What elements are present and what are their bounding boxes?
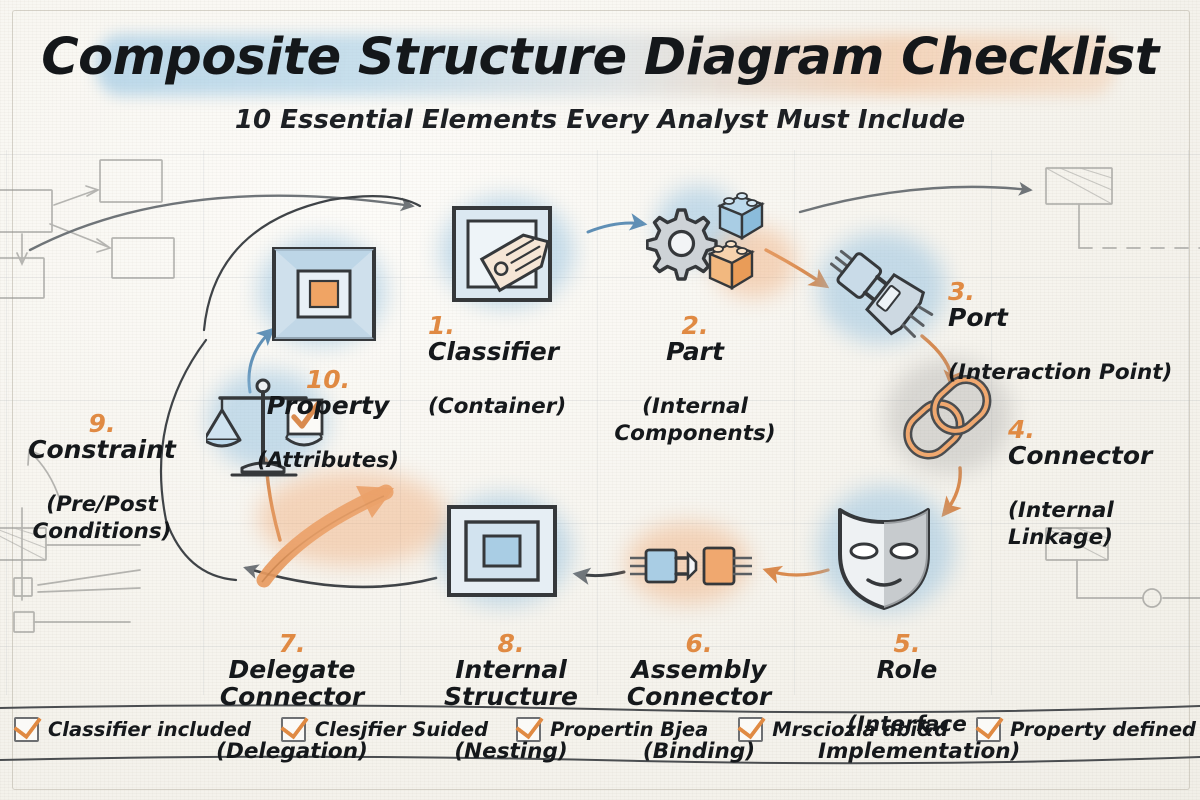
element-qualifier-1: (Container): [428, 394, 566, 419]
element-qualifier-3: (Interaction Point): [948, 360, 1172, 385]
nested-rectangles-icon: [444, 502, 560, 600]
page-title: Composite Structure Diagram Checklist: [0, 28, 1200, 87]
element-number-5: 5.: [894, 629, 921, 658]
checklist-label-5: Property defined: [1010, 718, 1196, 741]
element-name-6: Assembly Connector: [627, 655, 771, 711]
element-name-5: Role: [877, 655, 938, 684]
checkbox-checked-icon[interactable]: [14, 717, 39, 742]
element-label-4: 4. Connector (Internal Linkage): [1008, 390, 1200, 550]
element-qualifier-2: (Internal Components): [614, 394, 775, 446]
element-label-3: 3. Port (Interaction Point): [948, 252, 1172, 385]
element-number-1: 1.: [428, 311, 455, 340]
element-qualifier-10: (Attributes): [257, 448, 399, 473]
element-name-1: Classifier: [428, 337, 559, 366]
element-number-3: 3.: [948, 277, 975, 306]
plug-pair-icon: [630, 536, 752, 596]
element-number-4: 4.: [1008, 415, 1035, 444]
element-label-8: 8. Internal Structure (Nesting): [428, 604, 594, 763]
infographic-canvas: Composite Structure Diagram Checklist 10…: [0, 0, 1200, 800]
element-qualifier-4: (Internal Linkage): [1008, 498, 1114, 550]
nested-square-orange-core-icon: [268, 244, 380, 344]
element-number-7: 7.: [279, 629, 306, 658]
element-label-2: 2. Part (Internal Components): [600, 286, 790, 446]
page-subtitle: 10 Essential Elements Every Analyst Must…: [0, 105, 1200, 135]
element-name-8: Internal Structure: [444, 655, 578, 711]
element-qualifier-9: (Pre/Post Conditions): [33, 492, 172, 544]
checklist-item-5[interactable]: Property defined: [976, 717, 1196, 742]
element-qualifier-7: (Delegation): [216, 739, 368, 764]
element-label-9: 9. Constraint (Pre/Post Conditions): [0, 384, 212, 544]
element-qualifier-5: (Interface Implementation): [818, 712, 1020, 764]
element-name-4: Connector: [1008, 441, 1152, 470]
element-qualifier-8: (Nesting): [454, 739, 567, 764]
element-name-10: Property: [267, 391, 390, 420]
element-label-6: 6. Assembly Connector (Binding): [614, 604, 784, 763]
element-number-2: 2.: [682, 311, 709, 340]
gear-blocks-icon: [646, 192, 774, 296]
element-name-3: Port: [948, 303, 1008, 332]
element-label-5: 5. Role (Interface Implementation): [818, 604, 996, 764]
theater-mask-icon: [828, 496, 940, 612]
element-label-10: 10. Property (Attributes): [248, 340, 408, 473]
element-label-7: 7. Delegate Connector (Delegation): [162, 604, 422, 763]
element-number-6: 6.: [686, 629, 713, 658]
element-name-9: Constraint: [28, 435, 176, 464]
element-name-2: Part: [666, 337, 724, 366]
element-name-7: Delegate Connector: [220, 655, 364, 711]
element-label-1: 1. Classifier (Container): [428, 286, 566, 419]
plug-socket-icon: [824, 236, 938, 344]
element-number-10: 10.: [306, 365, 350, 394]
wash-delegate: [258, 470, 448, 566]
element-qualifier-6: (Binding): [643, 739, 755, 764]
element-number-9: 9.: [89, 409, 116, 438]
element-number-8: 8.: [498, 629, 525, 658]
